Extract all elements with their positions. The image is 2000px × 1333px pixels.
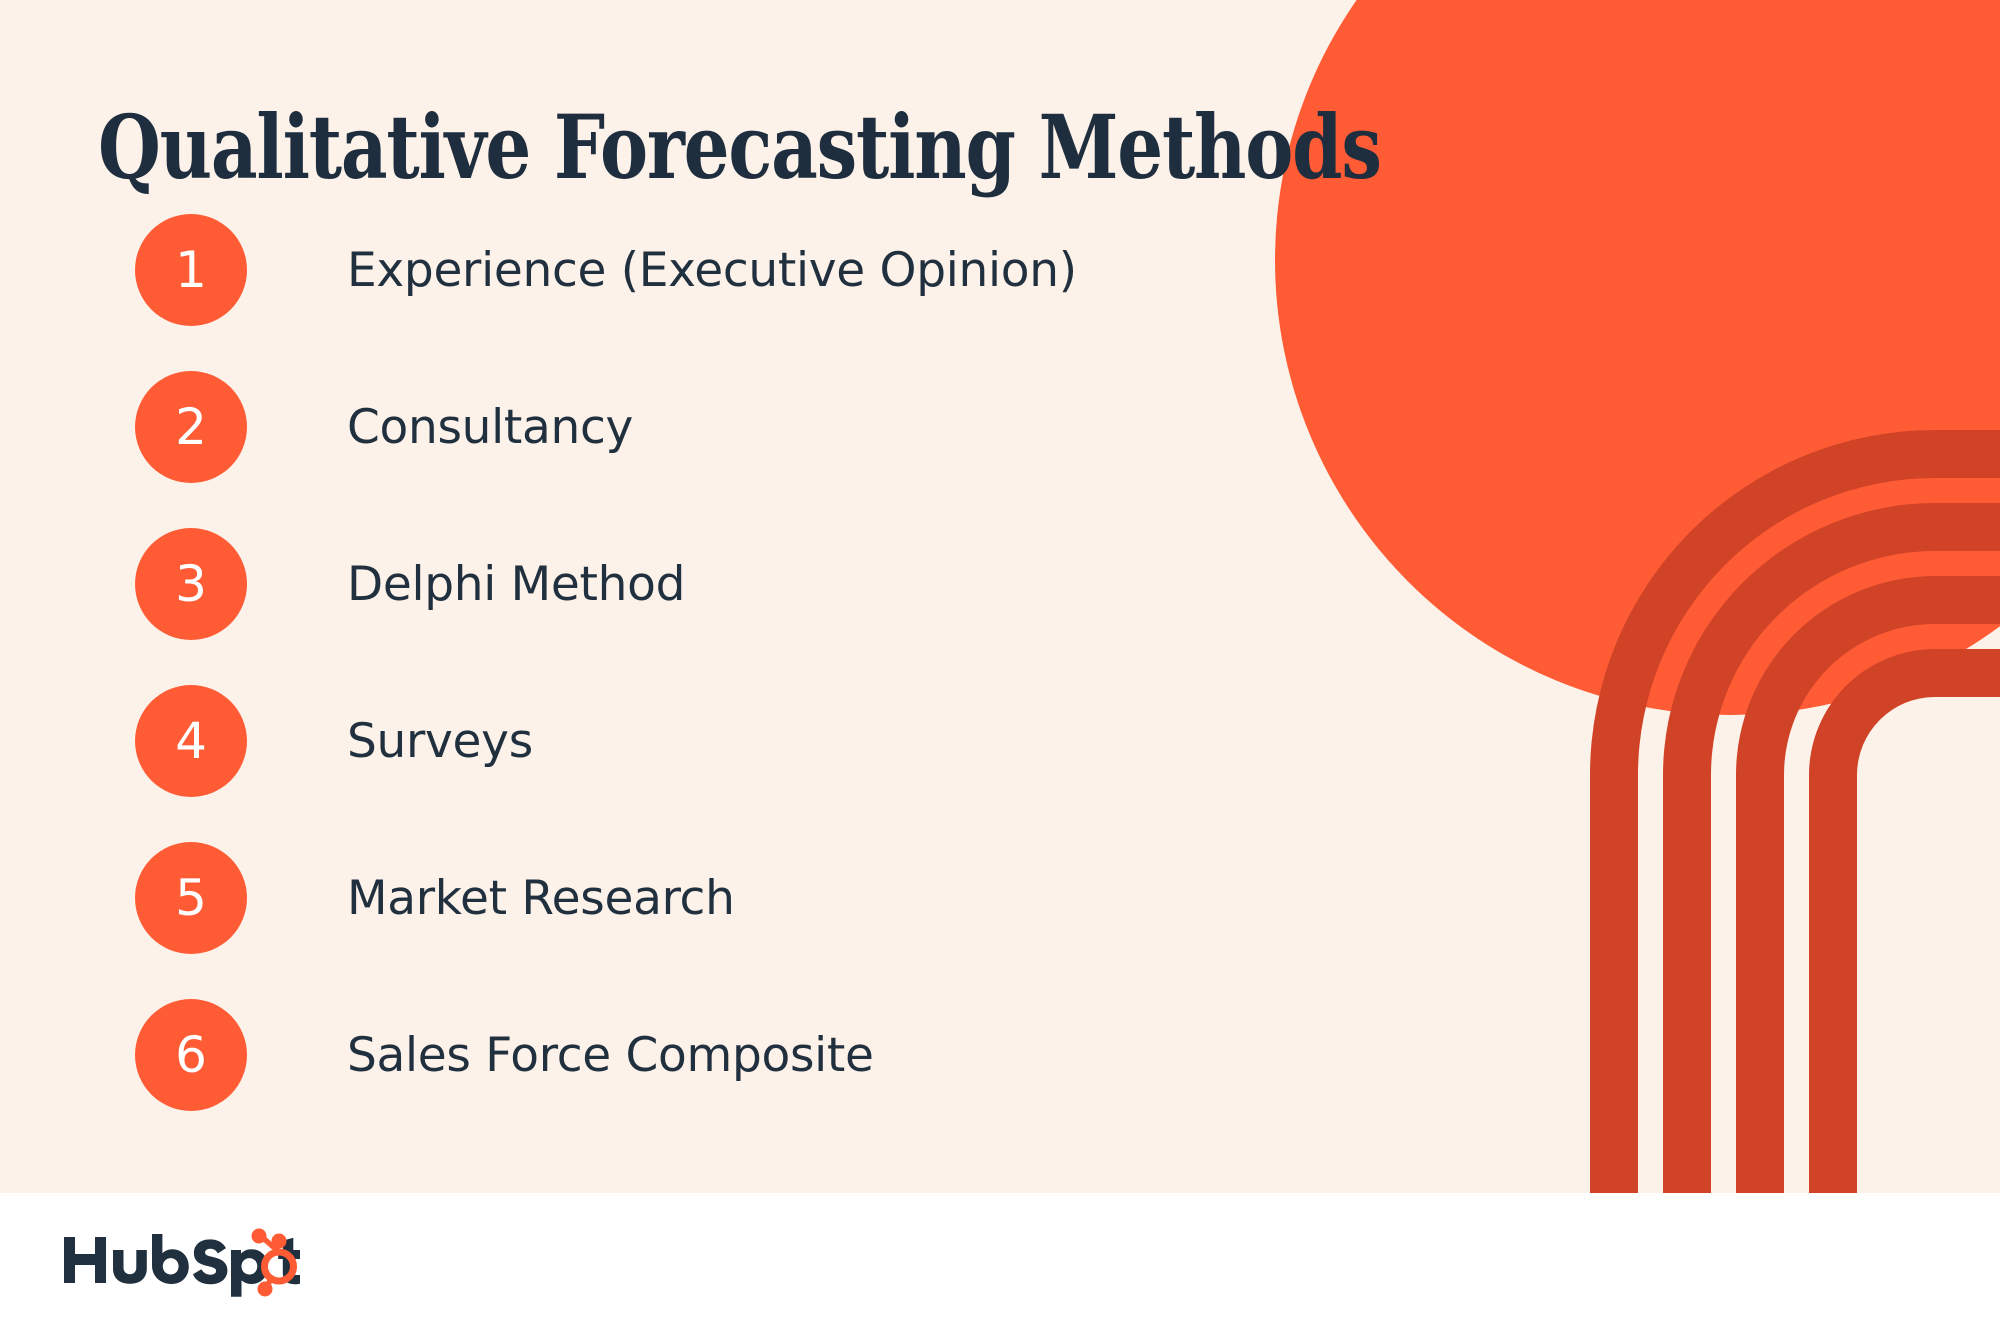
list-item-number: 1	[175, 245, 207, 295]
list-item[interactable]: 4 Surveys	[135, 685, 1235, 797]
list-item-label: Delphi Method	[347, 557, 685, 612]
list-item-number: 4	[175, 716, 207, 766]
list-item-number-badge: 6	[135, 999, 247, 1111]
arc-shape-2	[1663, 503, 2000, 1193]
logo-letter-b	[152, 1234, 189, 1284]
list-item[interactable]: 1 Experience (Executive Opinion)	[135, 214, 1235, 326]
arc-shape-1	[1590, 430, 2000, 1193]
hubspot-logo[interactable]	[62, 1225, 322, 1295]
logo-letter-h	[64, 1237, 106, 1283]
list-item-label: Sales Force Composite	[347, 1028, 874, 1083]
infographic-canvas: Qualitative Forecasting Methods 1 Experi…	[0, 0, 2000, 1333]
list-item-number-badge: 4	[135, 685, 247, 797]
footer-bar	[0, 1193, 2000, 1333]
logo-letter-u	[113, 1250, 147, 1284]
list-item-label: Market Research	[347, 871, 735, 926]
orange-circle-shape	[1275, 0, 2000, 715]
list-item-number-badge: 1	[135, 214, 247, 326]
list-item[interactable]: 5 Market Research	[135, 842, 1235, 954]
list-item-label: Surveys	[347, 714, 533, 769]
content-panel: Qualitative Forecasting Methods 1 Experi…	[0, 0, 2000, 1193]
list-item-number: 6	[175, 1030, 207, 1080]
list-item-number-badge: 2	[135, 371, 247, 483]
list-item[interactable]: 3 Delphi Method	[135, 528, 1235, 640]
list-item-number: 2	[175, 402, 207, 452]
logo-letter-s	[193, 1239, 227, 1284]
list-item[interactable]: 2 Consultancy	[135, 371, 1235, 483]
arc-shape-3	[1736, 576, 2000, 1193]
list-item-number-badge: 5	[135, 842, 247, 954]
list-item-number: 5	[175, 873, 207, 923]
list-item-label: Consultancy	[347, 400, 633, 455]
page-title: Qualitative Forecasting Methods	[98, 101, 1016, 193]
list-item-label: Experience (Executive Opinion)	[347, 243, 1077, 298]
list-item-number: 3	[175, 559, 207, 609]
list-item-number-badge: 3	[135, 528, 247, 640]
arc-shape-4	[1809, 649, 2000, 1193]
forecasting-methods-list: 1 Experience (Executive Opinion) 2 Consu…	[135, 214, 1235, 1156]
list-item[interactable]: 6 Sales Force Composite	[135, 999, 1235, 1111]
